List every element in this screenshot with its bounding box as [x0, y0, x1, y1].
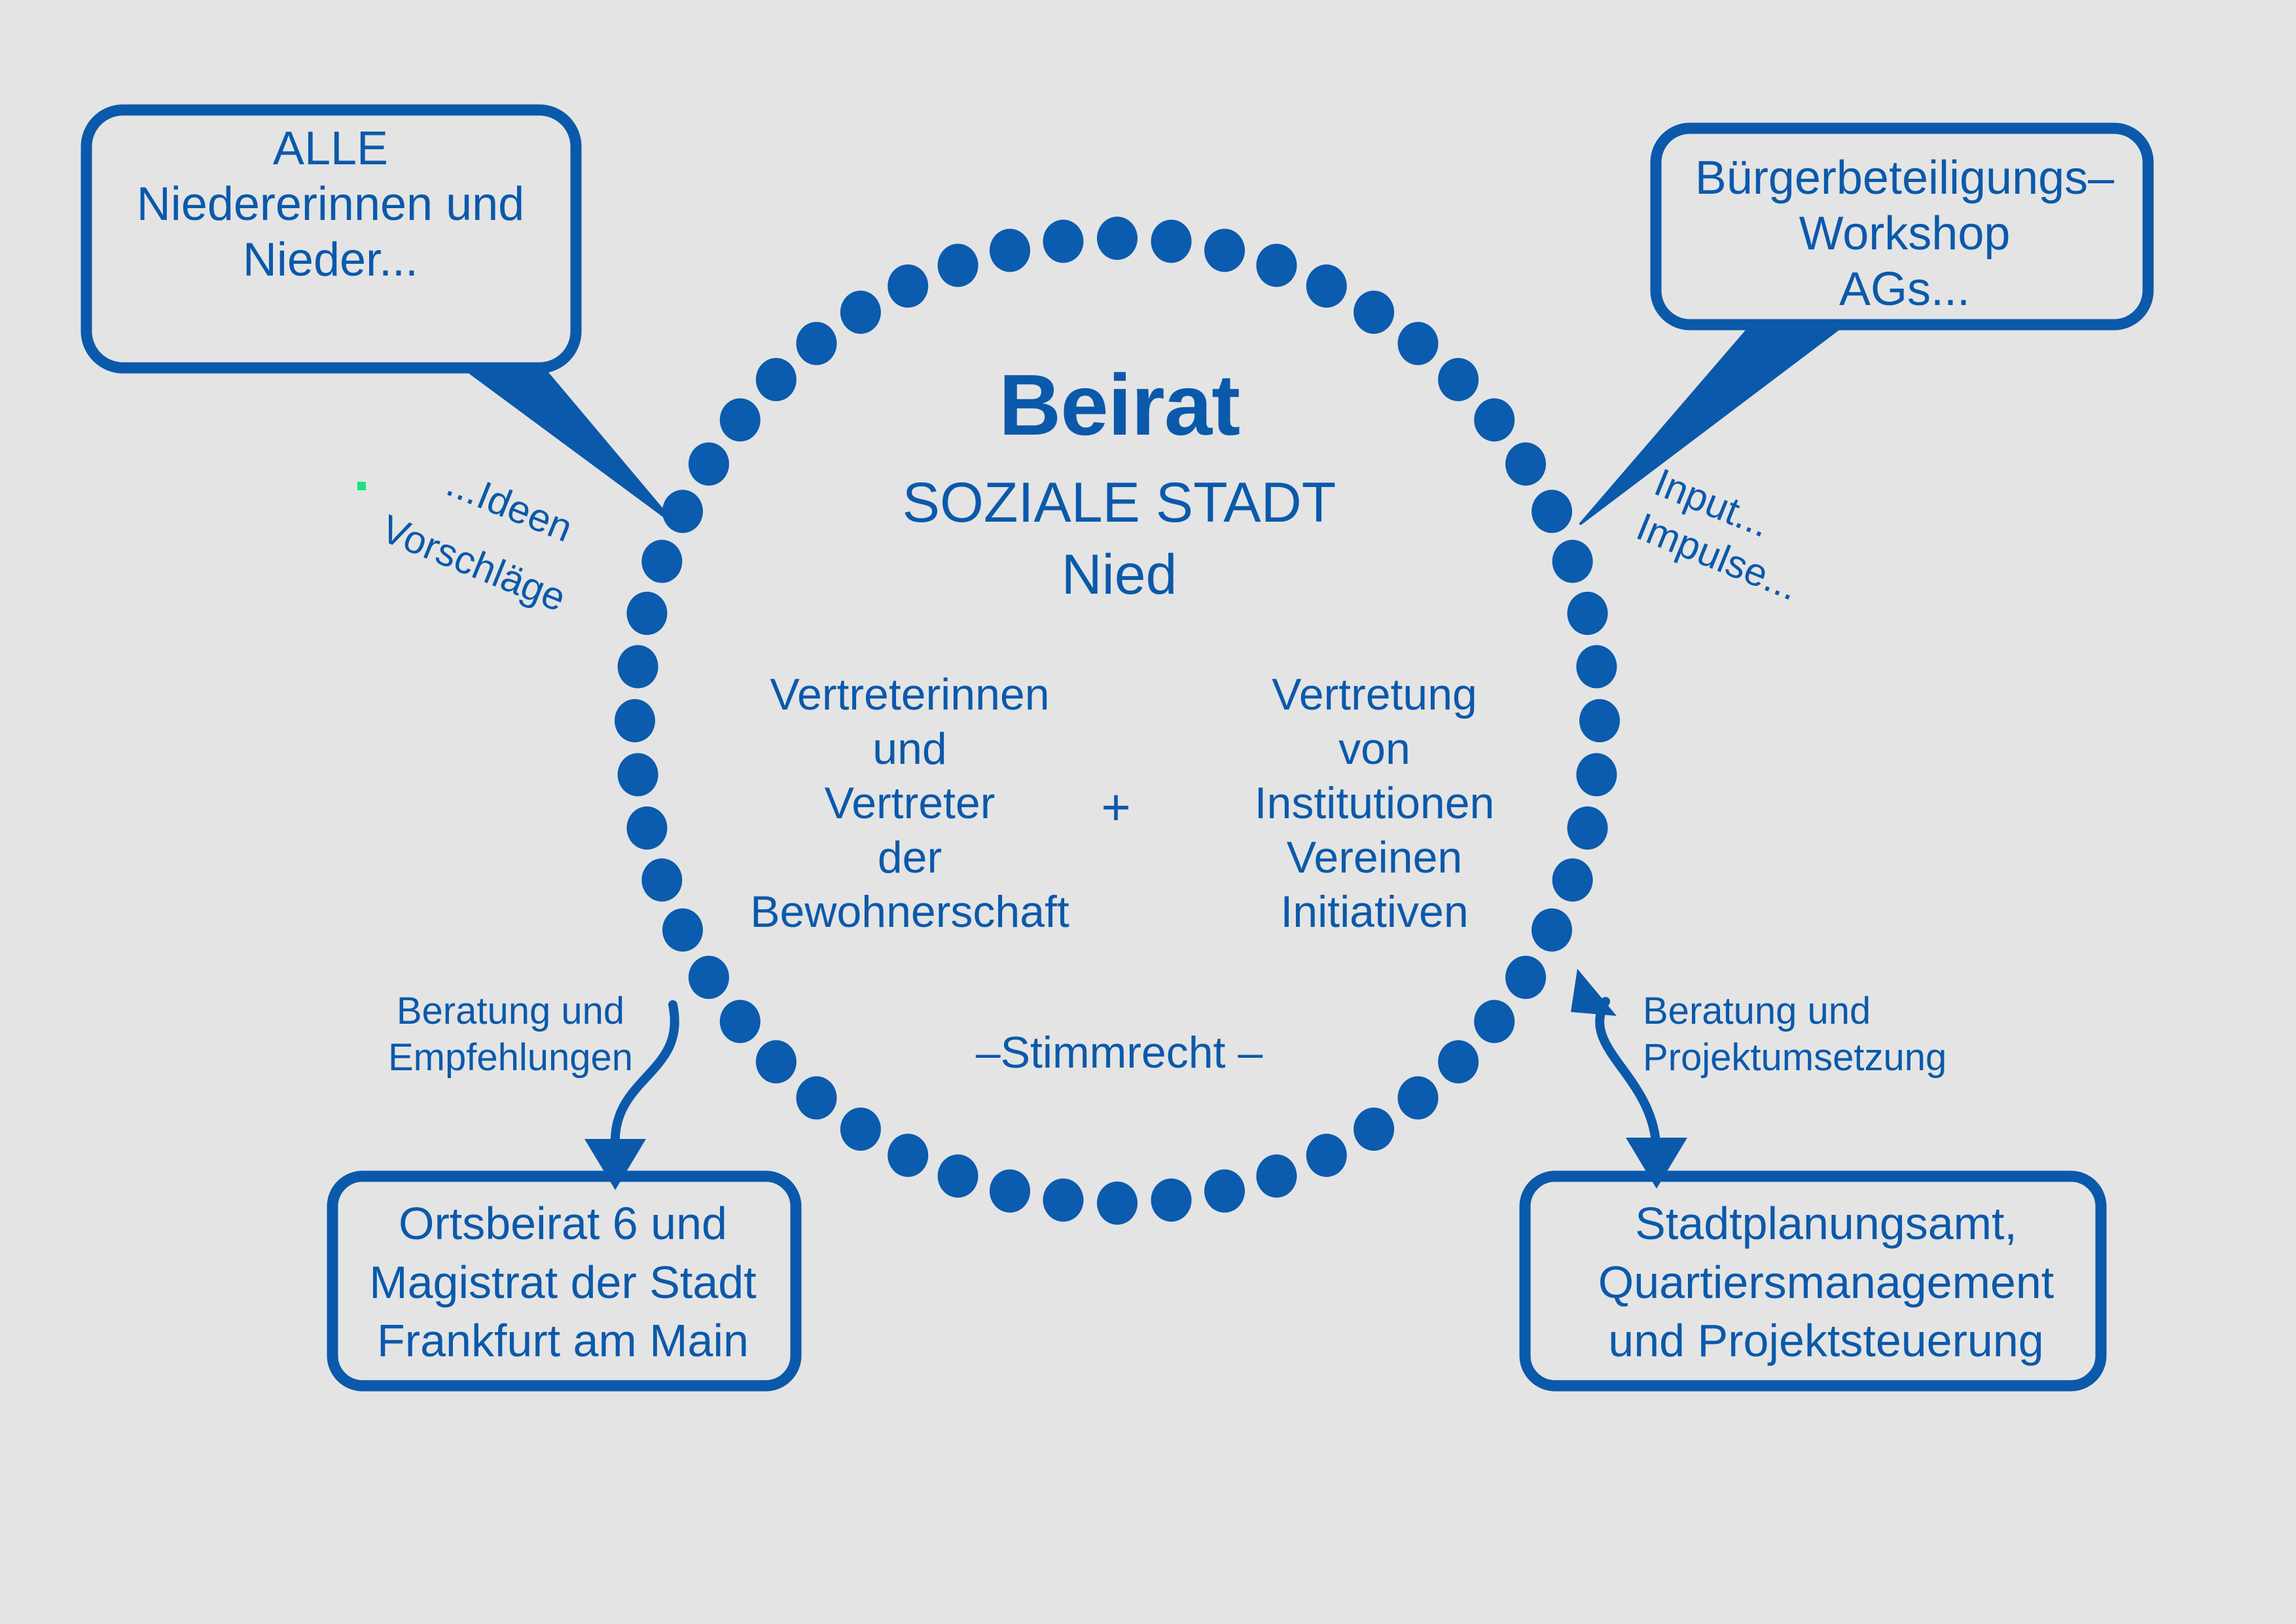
center-subtitle-line2: Nied [772, 543, 1466, 606]
box-left-label: Ortsbeirat 6 und Magistrat der Stadt Fra… [334, 1195, 792, 1371]
circle-dot [990, 1170, 1030, 1213]
circle-dot [641, 858, 682, 901]
circle-dot [1204, 1170, 1245, 1213]
center-footnote-stimmrecht: –Stimmrecht – [916, 1028, 1322, 1077]
circle-dot [662, 909, 703, 952]
center-subtitle-line1: SOZIALE STADT [772, 471, 1466, 534]
circle-dot [888, 1134, 928, 1177]
circle-dot [618, 645, 658, 688]
circle-dot [1204, 228, 1245, 272]
circle-dot [938, 1155, 978, 1198]
circle-dot [1474, 398, 1515, 441]
annotation-beratung-empfehlungen: Beratung und Empfehlungen [353, 988, 668, 1081]
speech-bubble-right-label: Bürgerbeteiligungs– Workshop AGs... [1662, 151, 2147, 317]
circle-dot [1256, 1155, 1297, 1198]
circle-dot [990, 228, 1030, 272]
circle-dot [689, 442, 729, 486]
circle-dot [938, 244, 978, 287]
circle-dot [626, 806, 667, 850]
circle-dot [689, 956, 729, 999]
circle-dot [1151, 220, 1192, 263]
circle-dot [1354, 1108, 1394, 1151]
circle-dot [1097, 1182, 1138, 1225]
box-right-label: Stadtplanungsamt, Quartiersmanagement un… [1538, 1195, 2114, 1371]
circle-dot [720, 1000, 761, 1043]
circle-dot [840, 291, 881, 334]
circle-dot [1151, 1178, 1192, 1221]
circle-dot [662, 490, 703, 533]
annotation-beratung-projektumsetzung: Beratung und Projektumsetzung [1643, 988, 1983, 1081]
plus-operator: + [1073, 779, 1158, 836]
circle-dot [615, 699, 655, 742]
circle-dot [756, 1040, 797, 1083]
circle-dot [1256, 244, 1297, 287]
green-marker-dot [357, 482, 366, 490]
circle-dot [796, 1076, 836, 1119]
circle-dot [1576, 645, 1617, 688]
circle-dot [618, 753, 658, 797]
circle-dot [626, 592, 667, 635]
circle-dot [1043, 220, 1083, 263]
circle-dot [1043, 1178, 1083, 1221]
circle-dot [1306, 264, 1347, 308]
circle-dot [1576, 753, 1617, 797]
speech-bubble-left-label: ALLE Niedererinnen und Nieder... [92, 121, 569, 288]
circle-dot [1097, 217, 1138, 260]
circle-dot [1354, 291, 1394, 334]
circle-dot [720, 398, 761, 441]
circle-dot [1552, 540, 1593, 583]
circle-dot [641, 540, 682, 583]
circle-dot [1306, 1134, 1347, 1177]
center-title: Beirat [772, 357, 1466, 454]
circle-dot [1474, 1000, 1515, 1043]
diagram-canvas: ALLE Niedererinnen und Nieder... Bürgerb… [0, 0, 2296, 1624]
circle-dot [1505, 956, 1546, 999]
circle-dot [888, 264, 928, 308]
center-column-right: Vertretung von Institutionen Vereinen In… [1172, 668, 1577, 939]
circle-dot [1438, 1040, 1479, 1083]
circle-dot [1568, 592, 1608, 635]
circle-dot [1505, 442, 1546, 486]
center-column-left: Vertreterinnen und Vertreter der Bewohne… [707, 668, 1113, 939]
circle-dot [1532, 490, 1572, 533]
circle-dot [1398, 1076, 1439, 1119]
circle-dot [1579, 699, 1620, 742]
circle-dot [840, 1108, 881, 1151]
